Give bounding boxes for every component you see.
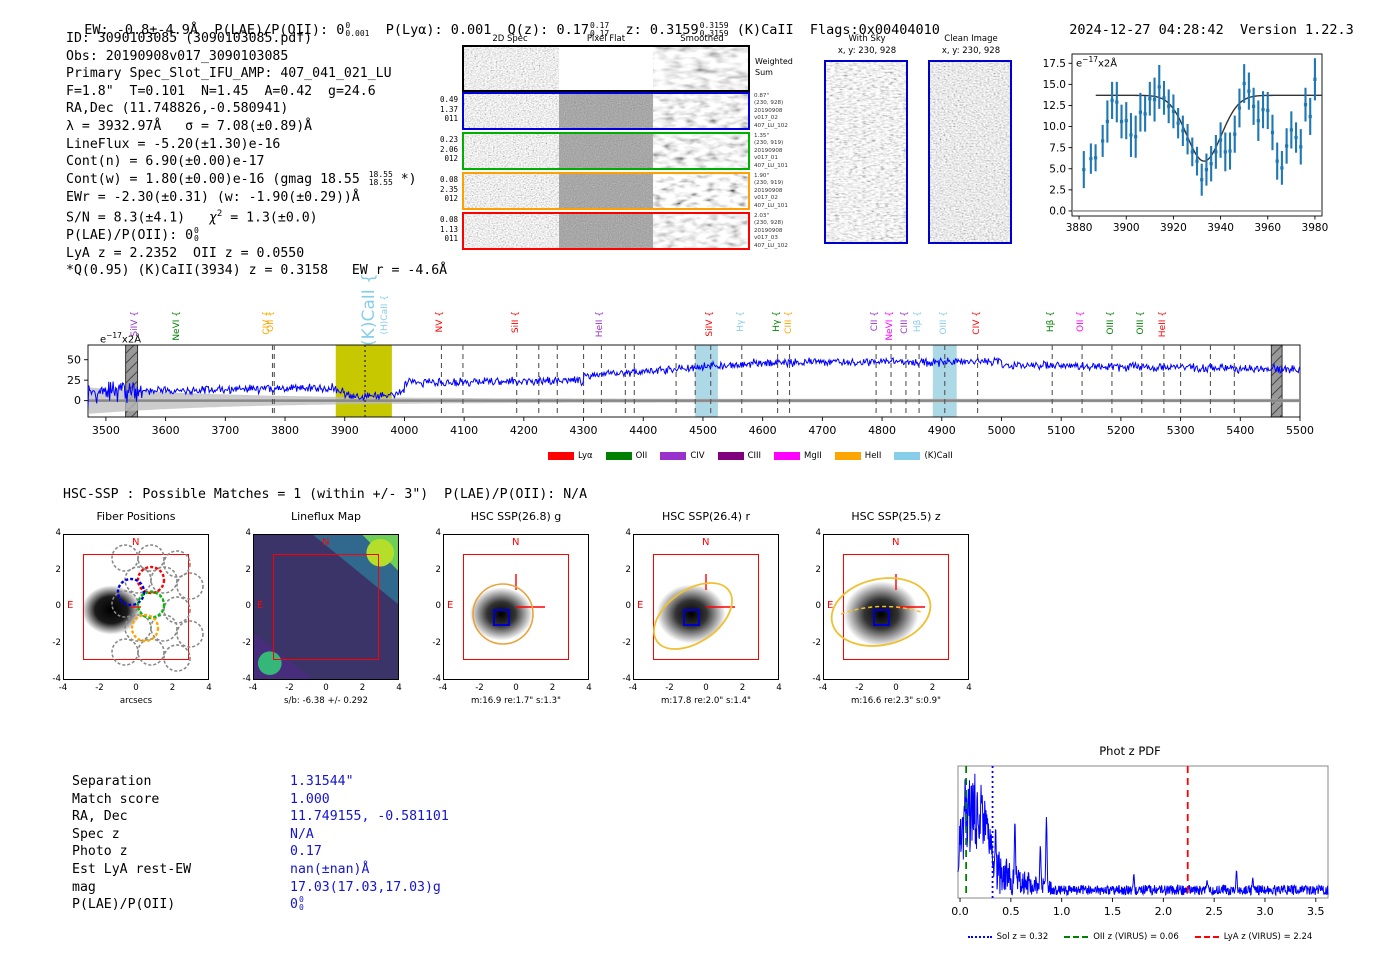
- info-lineflux: LineFlux = -5.20(±1.30)e-16: [66, 136, 447, 154]
- spec2d-row-right-labels: 2.03"(230, 928)20190908v017_03407_LU_102: [754, 213, 814, 250]
- cutout-x-tick: -4: [624, 683, 642, 693]
- legend-swatch: [774, 452, 800, 460]
- match-table-key: P(LAE)/P(OII): [72, 896, 290, 914]
- cutout-roi-box: [463, 554, 569, 660]
- cutout-y-tick: 0: [805, 601, 821, 611]
- cutout-x-tick: -4: [814, 683, 832, 693]
- cutout-y-tick: 2: [805, 565, 821, 575]
- cutout-title: Lineflux Map: [229, 510, 423, 523]
- cutout-title: HSC SSP(26.4) r: [609, 510, 803, 523]
- match-plae-range: 00: [299, 896, 304, 912]
- svg-text:4800: 4800: [868, 424, 896, 437]
- row-smoothed-image: [653, 214, 748, 248]
- compass-north: N: [322, 537, 329, 548]
- spectrum-line-label: NeVI {: [172, 311, 182, 341]
- spec2d-weighted-sum-strip: [462, 45, 750, 92]
- svg-text:4200: 4200: [510, 424, 538, 437]
- svg-text:3.5: 3.5: [1307, 905, 1325, 918]
- cutout-y-tick: 4: [425, 528, 441, 538]
- phot-z-legend-label: Sol z = 0.32: [997, 932, 1049, 942]
- cutout-x-tick: 4: [580, 683, 598, 693]
- svg-text:3500: 3500: [92, 424, 120, 437]
- match-table-value: 0.17: [290, 844, 322, 859]
- spectrum-line-label: Hγ {: [772, 311, 782, 332]
- svg-text:3900: 3900: [331, 424, 359, 437]
- match-table-key: mag: [72, 879, 290, 897]
- row-2dspec-image: [464, 134, 559, 168]
- spectrum-line-label: Hβ {: [913, 311, 923, 332]
- spectrum-line-label: CIII {: [784, 311, 794, 334]
- spec2d-row-left-labels: 0.081.13011: [430, 215, 458, 244]
- legend-swatch: [835, 452, 861, 460]
- spectrum-line-label: SiIV {: [130, 311, 140, 337]
- cutout-x-tick: -2: [471, 683, 489, 693]
- cutout-y-tick: 4: [235, 528, 251, 538]
- phot-z-legend-item: OII z (VIRUS) = 0.06: [1064, 932, 1179, 942]
- svg-text:1.5: 1.5: [1104, 905, 1122, 918]
- svg-text:12.5: 12.5: [1043, 100, 1066, 112]
- phot-z-pdf-chart: 0.00.51.01.52.02.53.03.5Phot z PDFSol z …: [920, 740, 1340, 950]
- legend-swatch: [718, 452, 744, 460]
- match-table-key: RA, Dec: [72, 808, 290, 826]
- spec2d-fiber-row: [462, 92, 750, 130]
- legend-swatch: [548, 452, 574, 460]
- spec2d-row-left-labels: 0.082.35012: [430, 175, 458, 204]
- cutout-y-tick: 0: [235, 601, 251, 611]
- cutout-y-tick: -2: [805, 638, 821, 648]
- legend-label: OII: [636, 451, 648, 461]
- match-table-value: 1.31544": [290, 774, 354, 789]
- cutout-x-tick: 0: [887, 683, 905, 693]
- compass-north: N: [702, 537, 709, 548]
- strip-smoothed-image: [653, 47, 748, 90]
- cutout-caption: m:16.9 re:1.7" s:1.3": [419, 696, 613, 706]
- cutout-caption: s/b: -6.38 +/- 0.292: [229, 696, 423, 706]
- svg-text:4100: 4100: [450, 424, 478, 437]
- legend-item: Lyα: [548, 451, 593, 461]
- clean-image-title: Clean Image: [928, 34, 1014, 44]
- cutout-y-tick: -4: [615, 674, 631, 684]
- cutout-x-tick: -4: [54, 683, 72, 693]
- phot-z-legend-swatch: [1064, 936, 1088, 938]
- spectrum-line-label: NV {: [435, 311, 445, 332]
- legend-swatch: [606, 452, 632, 460]
- match-table-row: Spec zN/A: [72, 826, 449, 844]
- svg-text:0.5: 0.5: [1002, 905, 1020, 918]
- info-plae-range: 00: [194, 227, 199, 243]
- source-info-block: ID: 3090103085 (3090103085.pdf) Obs: 201…: [66, 30, 447, 280]
- legend-swatch: [894, 452, 920, 460]
- svg-text:5.0: 5.0: [1049, 163, 1066, 175]
- info-redshifts: LyA z = 2.2352 OII z = 0.0550: [66, 245, 447, 263]
- weighted-sum-label: WeightedSum: [755, 56, 793, 78]
- strip-2dspec-image: [464, 47, 559, 90]
- row-pixelflat-image: [559, 174, 654, 208]
- spec2d-row-right-labels: 0.87"(230, 928)20190908v017_02407_LU_102: [754, 93, 814, 130]
- svg-text:3600: 3600: [152, 424, 180, 437]
- cutout-x-tick: 2: [354, 683, 372, 693]
- header-version: Version 1.22.3: [1240, 22, 1354, 38]
- spec2d-row-left-labels: 0.232.06012: [430, 135, 458, 164]
- info-plae: P(LAE)/P(OII): 000: [66, 227, 447, 245]
- cutout-y-tick: -2: [45, 638, 61, 648]
- svg-text:25: 25: [67, 374, 81, 387]
- svg-text:5000: 5000: [987, 424, 1015, 437]
- cutout-roi-box: [653, 554, 759, 660]
- cutout-x-tick: 4: [770, 683, 788, 693]
- info-cont-n: Cont(n) = 6.90(±0.00)e-17: [66, 153, 447, 171]
- legend-item: CIII: [718, 451, 761, 461]
- legend-label: Lyα: [578, 451, 593, 461]
- cutout-x-tick: 4: [200, 683, 218, 693]
- cutout-x-tick: -2: [281, 683, 299, 693]
- spec2d-fiber-rows: 0.491.370110.87"(230, 928)20190908v017_0…: [430, 92, 760, 254]
- cutout-y-tick: 4: [615, 528, 631, 538]
- legend-label: CIV: [690, 451, 704, 461]
- svg-text:10.0: 10.0: [1043, 121, 1066, 133]
- cutout-caption: m:16.6 re:2.3" s:0.9": [799, 696, 993, 706]
- phot-z-title: Phot z PDF: [920, 744, 1340, 758]
- legend-label: HeII: [865, 451, 882, 461]
- cutout-y-tick: -4: [425, 674, 441, 684]
- clean-image-coords: x, y: 230, 928: [928, 46, 1014, 56]
- phot-z-legend-item: Sol z = 0.32: [968, 932, 1049, 942]
- compass-east: E: [637, 600, 643, 611]
- svg-text:3880: 3880: [1066, 222, 1093, 234]
- spectrum-line-label: CIV {: [262, 311, 272, 335]
- line-profile-chart: 3880390039203940396039800.02.55.07.510.0…: [1028, 40, 1328, 250]
- match-table-key: Photo z: [72, 843, 290, 861]
- spectrum-line-label: OIII {: [1136, 311, 1146, 335]
- spectrum-line-label: HeII {: [1158, 311, 1168, 337]
- with-sky-image: [824, 60, 908, 244]
- row-2dspec-image: [464, 214, 559, 248]
- spec2d-row-right-labels: 1.35"(230, 919)20190908v017_01407_LU_101: [754, 133, 814, 170]
- svg-text:0.0: 0.0: [951, 905, 969, 918]
- phot-z-legend-swatch: [1195, 936, 1219, 938]
- match-table-value: 11.749155, -0.581101: [290, 809, 449, 824]
- info-id: ID: 3090103085 (3090103085.pdf): [66, 30, 447, 48]
- cutout-title: HSC SSP(25.5) z: [799, 510, 993, 523]
- cutout-x-tick: 0: [317, 683, 335, 693]
- phot-z-legend-swatch: [968, 936, 992, 938]
- line-profile-flux-annotation: e−17x2Å: [1076, 55, 1117, 69]
- legend-item: OII: [606, 451, 648, 461]
- match-table-row: P(LAE)/P(OII)000: [72, 896, 449, 914]
- svg-text:4000: 4000: [390, 424, 418, 437]
- match-table-row: Photo z0.17: [72, 843, 449, 861]
- info-cont-w: Cont(w) = 1.80(±0.00)e-16 (gmag 18.55 18…: [66, 171, 447, 189]
- svg-text:50: 50: [67, 353, 81, 366]
- match-table-value: 0: [290, 897, 298, 912]
- spec2d-fiber-row: [462, 212, 750, 250]
- cutout-y-tick: -2: [615, 638, 631, 648]
- svg-text:3960: 3960: [1254, 222, 1281, 234]
- svg-text:5500: 5500: [1286, 424, 1314, 437]
- cutout-y-tick: 0: [45, 601, 61, 611]
- compass-north: N: [512, 537, 519, 548]
- cutout-x-tick: -4: [434, 683, 452, 693]
- spectrum-line-label: NeVI {: [885, 311, 895, 341]
- svg-text:2.0: 2.0: [1155, 905, 1173, 918]
- spectrum-line-label: OII {: [1076, 311, 1086, 332]
- match-table-value: N/A: [290, 827, 314, 842]
- compass-east: E: [257, 600, 263, 611]
- spectrum-line-label: SiII {: [511, 311, 521, 333]
- svg-text:4700: 4700: [808, 424, 836, 437]
- row-smoothed-image: [653, 94, 748, 128]
- match-table-key: Match score: [72, 791, 290, 809]
- svg-text:15.0: 15.0: [1043, 79, 1066, 91]
- spectrum-line-label: (K)CaII {: [359, 273, 379, 346]
- row-pixelflat-image: [559, 134, 654, 168]
- match-table-key: Separation: [72, 773, 290, 791]
- cutout-x-tick: 2: [164, 683, 182, 693]
- svg-text:3940: 3940: [1207, 222, 1234, 234]
- info-ewr: EWr = -2.30(±0.31) (w: -1.90(±0.29))Å: [66, 189, 447, 207]
- row-smoothed-image: [653, 174, 748, 208]
- svg-text:5200: 5200: [1107, 424, 1135, 437]
- cutout-roi-box: [273, 554, 379, 660]
- legend-item: MgII: [774, 451, 822, 461]
- phot-z-legend-item: LyA z (VIRUS) = 2.24: [1195, 932, 1313, 942]
- match-table-row: Est LyA rest-EWnan(±nan)Å: [72, 861, 449, 879]
- compass-north: N: [892, 537, 899, 548]
- cutout-x-tick: 4: [960, 683, 978, 693]
- svg-text:3980: 3980: [1302, 222, 1328, 234]
- svg-text:4600: 4600: [749, 424, 777, 437]
- info-primary-slot: Primary Spec_Slot_IFU_AMP: 407_041_021_L…: [66, 65, 447, 83]
- match-table-row: Match score1.000: [72, 791, 449, 809]
- spectrum-line-label: (H)CaII {: [380, 295, 390, 335]
- compass-east: E: [447, 600, 453, 611]
- cutout-x-tick: 4: [390, 683, 408, 693]
- compass-east: E: [67, 600, 73, 611]
- cutout-y-tick: 4: [805, 528, 821, 538]
- match-table-row: RA, Dec11.749155, -0.581101: [72, 808, 449, 826]
- match-table-value: 17.03(17.03,17.03)g: [290, 880, 441, 895]
- spec2d-title-smoothed: Smoothed: [654, 34, 750, 44]
- hsc-header: HSC-SSP : Possible Matches = 1 (within +…: [63, 487, 587, 502]
- spectrum-legend: LyαOIICIVCIIIMgIIHeII(K)CaII: [548, 443, 966, 462]
- svg-text:0.0: 0.0: [1049, 206, 1066, 218]
- cutout-x-tick: -2: [851, 683, 869, 693]
- legend-label: MgII: [804, 451, 822, 461]
- match-table-value: nan(±nan)Å: [290, 862, 369, 877]
- cutout-y-tick: 2: [45, 565, 61, 575]
- spec2d-row-right-labels: 1.90"(230, 919)20190908v017_02407_LU_101: [754, 173, 814, 210]
- clean-image-image: [928, 60, 1012, 244]
- svg-text:5400: 5400: [1226, 424, 1254, 437]
- match-table-value: 1.000: [290, 792, 330, 807]
- phot-z-legend-label: LyA z (VIRUS) = 2.24: [1224, 932, 1313, 942]
- svg-text:4400: 4400: [629, 424, 657, 437]
- cutout-caption: arcsecs: [39, 696, 233, 706]
- phot-z-legend: Sol z = 0.32OII z (VIRUS) = 0.06LyA z (V…: [938, 924, 1358, 943]
- compass-east: E: [827, 600, 833, 611]
- svg-text:4500: 4500: [689, 424, 717, 437]
- svg-text:5300: 5300: [1167, 424, 1195, 437]
- cutout-x-tick: -2: [661, 683, 679, 693]
- svg-text:17.5: 17.5: [1043, 58, 1066, 70]
- row-2dspec-image: [464, 94, 559, 128]
- spec2d-title-pixelflat: Pixel Flat: [558, 34, 654, 44]
- legend-label: CIII: [748, 451, 761, 461]
- cutout-y-tick: -2: [235, 638, 251, 648]
- cutout-y-tick: 4: [45, 528, 61, 538]
- compass-north: N: [132, 537, 139, 548]
- cutout-y-tick: -2: [425, 638, 441, 648]
- legend-label: (K)CaII: [924, 451, 952, 461]
- cutout-panel-group: Fiber PositionsNE4-42-200-22-44arcsecsLi…: [55, 510, 1015, 725]
- spectrum-line-label: OIII {: [939, 311, 949, 335]
- svg-text:2.5: 2.5: [1205, 905, 1223, 918]
- spectrum-line-label: CIII {: [900, 311, 910, 334]
- info-lambda-sigma: λ = 3932.97Å σ = 7.08(±0.89)Å: [66, 118, 447, 136]
- svg-text:7.5: 7.5: [1049, 142, 1066, 154]
- row-pixelflat-image: [559, 214, 654, 248]
- svg-text:4300: 4300: [570, 424, 598, 437]
- cutout-x-tick: 0: [507, 683, 525, 693]
- match-table-row: mag17.03(17.03,17.03)g: [72, 879, 449, 897]
- phot-z-legend-label: OII z (VIRUS) = 0.06: [1093, 932, 1179, 942]
- svg-text:2.5: 2.5: [1049, 184, 1066, 196]
- header-timestamp: 2024-12-27 04:28:42: [1069, 22, 1223, 38]
- cutout-y-tick: -4: [45, 674, 61, 684]
- row-pixelflat-image: [559, 94, 654, 128]
- spectrum-line-label: CIV {: [972, 311, 982, 335]
- with-sky-title: With Sky: [824, 34, 910, 44]
- cutout-x-tick: 2: [924, 683, 942, 693]
- spectrum-line-label: HeII {: [595, 311, 605, 337]
- spectrum-line-label: Hβ {: [1046, 311, 1056, 332]
- cutout-y-tick: 2: [615, 565, 631, 575]
- gmag-range: 18.5518.55: [369, 171, 393, 187]
- cutout-y-tick: 0: [615, 601, 631, 611]
- cutout-x-tick: 2: [544, 683, 562, 693]
- match-table: Separation1.31544"Match score1.000RA, De…: [72, 773, 449, 914]
- cutout-caption: m:17.8 re:2.0" s:1.4": [609, 696, 803, 706]
- spec2d-row-left-labels: 0.491.37011: [430, 95, 458, 124]
- svg-text:3920: 3920: [1160, 222, 1187, 234]
- cutout-x-tick: 0: [697, 683, 715, 693]
- cutout-y-tick: -4: [235, 674, 251, 684]
- info-radec: RA,Dec (11.748826,-0.580941): [66, 100, 447, 118]
- legend-item: CIV: [660, 451, 704, 461]
- row-smoothed-image: [653, 134, 748, 168]
- svg-text:3800: 3800: [271, 424, 299, 437]
- match-table-key: Est LyA rest-EW: [72, 861, 290, 879]
- svg-text:4900: 4900: [928, 424, 956, 437]
- cutout-x-tick: -4: [244, 683, 262, 693]
- cutout-x-tick: -2: [91, 683, 109, 693]
- spectrum-line-label: SiIV {: [705, 311, 715, 337]
- cutout-y-tick: -4: [805, 674, 821, 684]
- legend-item: HeII: [835, 451, 882, 461]
- row-2dspec-image: [464, 174, 559, 208]
- svg-text:0: 0: [74, 394, 81, 407]
- with-sky-coords: x, y: 230, 928: [824, 46, 910, 56]
- cutout-x-tick: 2: [734, 683, 752, 693]
- header-meta: 2024-12-27 04:28:42 Version 1.22.3: [1053, 6, 1354, 38]
- svg-text:5100: 5100: [1047, 424, 1075, 437]
- svg-text:3700: 3700: [211, 424, 239, 437]
- strip-pixelflat-image: [559, 47, 654, 90]
- svg-text:3900: 3900: [1113, 222, 1140, 234]
- cutout-y-tick: 2: [235, 565, 251, 575]
- cutout-x-tick: 0: [127, 683, 145, 693]
- info-params: F=1.8" T=0.101 N=1.45 A=0.42 g=24.6: [66, 83, 447, 101]
- cutout-title: HSC SSP(26.8) g: [419, 510, 613, 523]
- full-spectrum-chart: 0255035003600370038003900400041004200430…: [60, 270, 1340, 470]
- cutout-title: Fiber Positions: [39, 510, 233, 523]
- info-sn-chi2: S/N = 8.3(±4.1) χ2 = 1.3(±0.0): [66, 206, 447, 227]
- svg-text:1.0: 1.0: [1053, 905, 1071, 918]
- legend-item: (K)CaII: [894, 451, 952, 461]
- match-table-key: Spec z: [72, 826, 290, 844]
- spectrum-line-label: CII {: [870, 311, 880, 331]
- cutout-y-tick: 0: [425, 601, 441, 611]
- spectrum-line-label: OIII {: [1106, 311, 1116, 335]
- spec2d-fiber-row: [462, 132, 750, 170]
- info-obs: Obs: 20190908v017_3090103085: [66, 48, 447, 66]
- legend-swatch: [660, 452, 686, 460]
- svg-text:3.0: 3.0: [1256, 905, 1274, 918]
- spec2d-title-2dspec: 2D Spec: [462, 34, 558, 44]
- cutout-y-tick: 2: [425, 565, 441, 575]
- spec2d-fiber-row: [462, 172, 750, 210]
- cutout-roi-box: [843, 554, 949, 660]
- spectrum-line-label: Hγ {: [736, 311, 746, 332]
- match-table-row: Separation1.31544": [72, 773, 449, 791]
- cutout-roi-box: [83, 554, 189, 660]
